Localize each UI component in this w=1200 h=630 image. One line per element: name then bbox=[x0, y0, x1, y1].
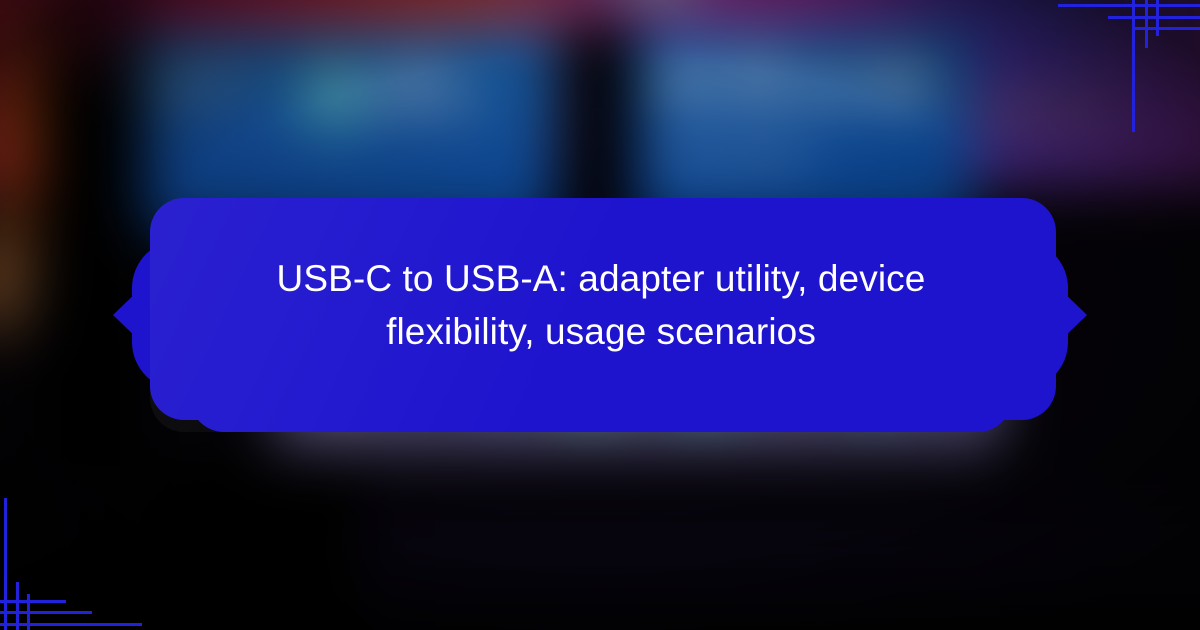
decor-line-horizontal bbox=[1058, 4, 1200, 7]
decor-line-vertical bbox=[27, 594, 30, 630]
corner-line-grid-bottom-left bbox=[0, 480, 180, 630]
decor-line-vertical bbox=[16, 582, 19, 630]
social-card-canvas: USB-C to USB-A: adapter utility, device … bbox=[0, 0, 1200, 630]
decor-line-horizontal bbox=[1134, 27, 1200, 30]
decor-line-vertical bbox=[4, 498, 7, 630]
decor-line-horizontal bbox=[0, 611, 92, 614]
decor-line-horizontal bbox=[0, 623, 142, 626]
corner-line-grid-top-right bbox=[1020, 0, 1200, 150]
decor-line-horizontal bbox=[1108, 16, 1200, 19]
decor-line-vertical bbox=[1156, 0, 1159, 36]
decor-line-vertical bbox=[1132, 0, 1135, 132]
decor-line-horizontal bbox=[0, 600, 66, 603]
decor-line-vertical bbox=[1145, 0, 1148, 48]
